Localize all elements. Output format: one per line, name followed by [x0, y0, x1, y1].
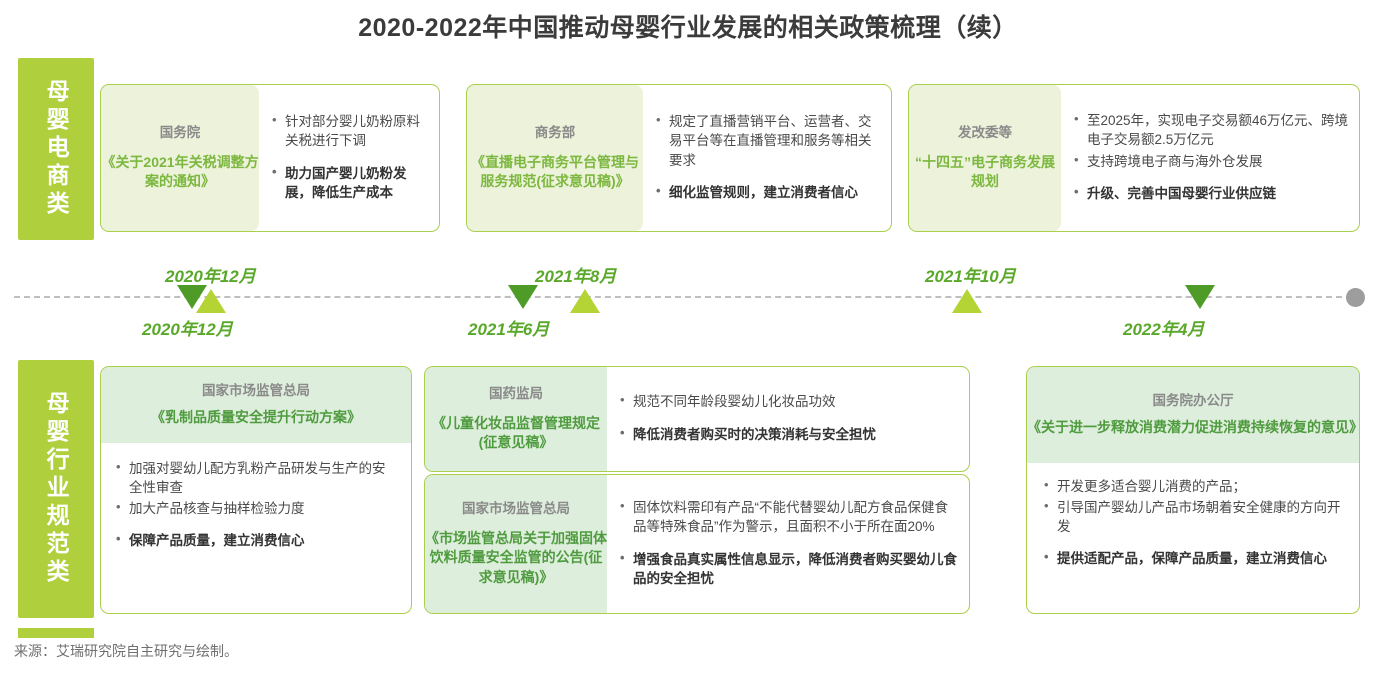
timeline-label-below-2: 2021年6月 — [468, 315, 549, 340]
policy-card-dairy-safety: 国家市场监管总局 《乳制品质量安全提升行动方案》 加强对婴幼儿配方乳粉产品研发与… — [100, 366, 412, 614]
policy-card-body: 针对部分婴儿奶粉原料关税进行下调 助力国产婴儿奶粉发展，降低生产成本 — [259, 85, 439, 231]
policy-card-consumption-recovery: 国务院办公厅 《关于进一步释放消费潜力促进消费持续恢复的意见》 开发更多适合婴儿… — [1026, 366, 1360, 614]
policy-card-solid-beverage: 国家市场监管总局 《市场监管总局关于加强固体饮料质量安全监管的公告(征求意见稿)… — [424, 474, 970, 614]
policy-org-name: 发改委等 — [958, 125, 1012, 142]
policy-doc-title: 《乳制品质量安全提升行动方案》 — [151, 408, 361, 427]
policy-doc-title: 《儿童化妆品监督管理规定(征意见稿》 — [425, 414, 607, 453]
sidebar-category-ecommerce: 母婴电商类 — [18, 58, 94, 240]
policy-bullet-list: 至2025年，实现电子交易额46万亿元、跨境电子交易额2.5万亿元 支持跨境电子… — [1073, 111, 1349, 205]
policy-card-body: 开发更多适合婴儿消费的产品； 引导国产婴幼儿产品市场朝着安全健康的方向开发 提供… — [1027, 463, 1359, 581]
policy-bullet-highlight: 助力国产婴儿奶粉发展，降低生产成本 — [271, 164, 429, 202]
policy-bullet: 加大产品核查与抽样检验力度 — [115, 499, 397, 518]
sidebar-category-regulation: 母婴行业规范类 — [18, 360, 94, 618]
policy-card-body: 至2025年，实现电子交易额46万亿元、跨境电子交易额2.5万亿元 支持跨境电子… — [1061, 85, 1359, 231]
policy-bullet-highlight: 增强食品真实属性信息显示，降低消费者购买婴幼儿食品的安全担忧 — [619, 550, 959, 588]
policy-bullet-list: 固体饮料需印有产品“不能代替婴幼儿配方食品保健食品等特殊食品”作为警示，且面积不… — [619, 498, 959, 590]
timeline-label-below-4: 2022年4月 — [1123, 315, 1204, 340]
policy-bullet: 支持跨境电子商与海外仓发展 — [1073, 152, 1349, 171]
policy-bullet: 规范不同年龄段婴幼儿化妆品功效 — [619, 392, 959, 411]
timeline-label-above-1: 2020年12月 — [165, 262, 256, 287]
policy-card-header: 国务院办公厅 《关于进一步释放消费潜力促进消费持续恢复的意见》 — [1027, 367, 1359, 463]
infographic-page: 2020-2022年中国推动母婴行业发展的相关政策梳理（续） 母婴电商类 母婴行… — [0, 0, 1376, 676]
policy-doc-title: 《直播电子商务平台管理与服务规范(征求意见稿)》 — [467, 153, 643, 192]
policy-bullet: 引导国产婴幼儿产品市场朝着安全健康的方向开发 — [1043, 498, 1345, 536]
footer-accent-bar — [18, 628, 94, 638]
policy-card-body: 加强对婴幼儿配方乳粉产品研发与生产的安全性审查 加大产品核查与抽样检验力度 保障… — [101, 443, 411, 563]
policy-bullet: 至2025年，实现电子交易额46万亿元、跨境电子交易额2.5万亿元 — [1073, 111, 1349, 149]
policy-bullet: 规定了直播营销平台、运营者、交易平台等在直播管理和服务等相关要求 — [655, 112, 881, 169]
policy-card-shangwubu: 商务部 《直播电子商务平台管理与服务规范(征求意见稿)》 规定了直播营销平台、运… — [466, 84, 892, 232]
policy-org-name: 国药监局 — [489, 386, 543, 403]
policy-bullet-list: 针对部分婴儿奶粉原料关税进行下调 助力国产婴儿奶粉发展，降低生产成本 — [271, 112, 429, 204]
policy-bullet-highlight: 降低消费者购买时的决策消耗与安全担忧 — [619, 425, 959, 444]
timeline-marker-up-icon-2 — [570, 289, 600, 313]
policy-bullet-highlight: 升级、完善中国母婴行业供应链 — [1073, 184, 1349, 203]
policy-card-header: 国务院 《关于2021年关税调整方案的通知》 — [101, 85, 259, 231]
timeline-marker-up-icon-1 — [196, 289, 226, 313]
policy-card-header: 发改委等 “十四五”电子商务发展规划 — [909, 85, 1061, 231]
timeline-marker-down-icon-2 — [508, 285, 538, 309]
timeline-marker-down-icon-4 — [1185, 285, 1215, 309]
policy-bullet-list: 规范不同年龄段婴幼儿化妆品功效 降低消费者购买时的决策消耗与安全担忧 — [619, 392, 959, 445]
timeline-marker-up-icon-3 — [952, 289, 982, 313]
policy-bullet-list: 开发更多适合婴儿消费的产品； 引导国产婴幼儿产品市场朝着安全健康的方向开发 提供… — [1043, 477, 1345, 569]
policy-card-header: 商务部 《直播电子商务平台管理与服务规范(征求意见稿)》 — [467, 85, 643, 231]
policy-bullet: 加强对婴幼儿配方乳粉产品研发与生产的安全性审查 — [115, 459, 397, 497]
policy-bullet: 固体饮料需印有产品“不能代替婴幼儿配方食品保健食品等特殊食品”作为警示，且面积不… — [619, 498, 959, 536]
policy-org-name: 商务部 — [535, 125, 576, 142]
sidebar-label-ecommerce: 母婴电商类 — [44, 79, 68, 219]
policy-bullet-highlight: 保障产品质量，建立消费信心 — [115, 531, 397, 550]
policy-org-name: 国务院 — [160, 125, 201, 142]
policy-bullet: 针对部分婴儿奶粉原料关税进行下调 — [271, 112, 429, 150]
sidebar-label-regulation: 母婴行业规范类 — [44, 391, 68, 587]
policy-org-name: 国务院办公厅 — [1153, 393, 1234, 410]
policy-card-fagaiwei: 发改委等 “十四五”电子商务发展规划 至2025年，实现电子交易额46万亿元、跨… — [908, 84, 1360, 232]
policy-doc-title: 《关于进一步释放消费潜力促进消费持续恢复的意见》 — [1027, 418, 1359, 437]
policy-bullet-list: 加强对婴幼儿配方乳粉产品研发与生产的安全性审查 加大产品核查与抽样检验力度 保障… — [115, 459, 397, 551]
policy-card-header: 国药监局 《儿童化妆品监督管理规定(征意见稿》 — [425, 367, 607, 471]
policy-card-header: 国家市场监管总局 《市场监管总局关于加强固体饮料质量安全监管的公告(征求意见稿)… — [425, 475, 607, 613]
policy-org-name: 国家市场监管总局 — [462, 501, 570, 518]
policy-org-name: 国家市场监管总局 — [202, 383, 310, 400]
policy-bullet-highlight: 细化监管规则，建立消费者信心 — [655, 183, 881, 202]
timeline-label-below-1: 2020年12月 — [142, 315, 233, 340]
timeline-label-above-3: 2021年10月 — [925, 262, 1016, 287]
policy-card-guowuyuan: 国务院 《关于2021年关税调整方案的通知》 针对部分婴儿奶粉原料关税进行下调 … — [100, 84, 440, 232]
policy-doc-title: 《市场监管总局关于加强固体饮料质量安全监管的公告(征求意见稿)》 — [425, 529, 607, 587]
timeline-label-above-2: 2021年8月 — [535, 262, 616, 287]
policy-bullet-list: 规定了直播营销平台、运营者、交易平台等在直播管理和服务等相关要求 细化监管规则，… — [655, 112, 881, 204]
policy-card-header: 国家市场监管总局 《乳制品质量安全提升行动方案》 — [101, 367, 411, 443]
policy-bullet-highlight: 提供适配产品，保障产品质量，建立消费信心 — [1043, 549, 1345, 568]
policy-bullet: 开发更多适合婴儿消费的产品； — [1043, 477, 1345, 496]
page-title: 2020-2022年中国推动母婴行业发展的相关政策梳理（续） — [0, 8, 1376, 44]
policy-card-body: 固体饮料需印有产品“不能代替婴幼儿配方食品保健食品等特殊食品”作为警示，且面积不… — [607, 475, 969, 613]
policy-doc-title: “十四五”电子商务发展规划 — [909, 153, 1061, 192]
policy-card-body: 规范不同年龄段婴幼儿化妆品功效 降低消费者购买时的决策消耗与安全担忧 — [607, 367, 969, 471]
policy-card-body: 规定了直播营销平台、运营者、交易平台等在直播管理和服务等相关要求 细化监管规则，… — [643, 85, 891, 231]
policy-card-childrens-cosmetics: 国药监局 《儿童化妆品监督管理规定(征意见稿》 规范不同年龄段婴幼儿化妆品功效 … — [424, 366, 970, 472]
policy-doc-title: 《关于2021年关税调整方案的通知》 — [101, 153, 259, 192]
footer-source-text: 来源：艾瑞研究院自主研究与绘制。 — [14, 641, 238, 661]
timeline-end-dot-icon — [1346, 288, 1365, 307]
